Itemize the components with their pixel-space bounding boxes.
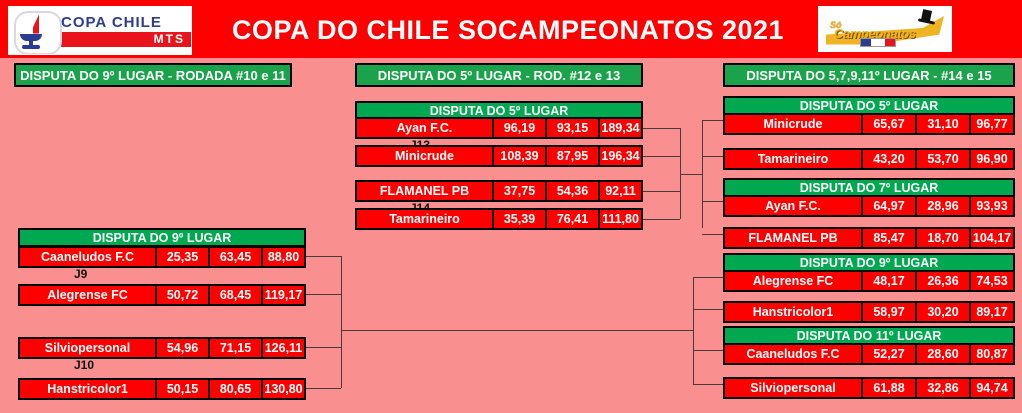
section-header-left: DISPUTA DO 9º LUGAR - RODADA #10 e 11: [14, 63, 292, 87]
score-total: 74,53: [969, 272, 1013, 290]
table-row[interactable]: Hanstricolor1 58,97 30,20 89,17: [723, 301, 1015, 323]
score-total: 119,17: [261, 286, 304, 304]
score-1: 54,96: [155, 339, 208, 357]
table-row[interactable]: Minicrude 108,39 87,95 196,34: [355, 145, 643, 167]
sailboat-trophy-icon: [13, 10, 59, 52]
score-total: 92,11: [598, 182, 641, 200]
score-1: 25,35: [155, 248, 208, 266]
top-hat-icon: [918, 10, 934, 26]
score-total: 126,11: [261, 339, 304, 357]
page-title: COPA DO CHILE SOCAMPEONATOS 2021: [208, 12, 808, 48]
score-2: 32,86: [915, 379, 969, 397]
score-1: 35,39: [492, 210, 545, 228]
score-1: 85,47: [861, 229, 915, 247]
team-name: Alegrense FC: [20, 286, 155, 304]
score-2: 54,36: [545, 182, 598, 200]
connector-line: [693, 309, 723, 310]
connector-line: [341, 330, 693, 331]
connector-line: [693, 277, 723, 278]
team-name: Caaneludos F.C: [725, 345, 861, 363]
connector-line: [306, 294, 341, 295]
connector-line: [306, 347, 341, 348]
connector-line: [306, 256, 341, 257]
score-2: 87,95: [545, 147, 598, 165]
connector-line: [702, 120, 723, 121]
score-total: 130,80: [261, 380, 304, 398]
team-name: Caaneludos F.C: [20, 248, 155, 266]
score-2: 18,70: [915, 229, 969, 247]
table-row[interactable]: Ayan F.C. 96,19 93,15 189,34: [355, 117, 643, 139]
score-1: 50,72: [155, 286, 208, 304]
score-1: 50,15: [155, 380, 208, 398]
team-name: Tamarineiro: [357, 210, 492, 228]
table-row[interactable]: Caaneludos F.C 25,35 63,45 88,80: [18, 246, 306, 268]
score-total: 89,17: [969, 303, 1013, 321]
so-campeonatos-logo: Só Campeonatos: [818, 6, 952, 52]
connector-line: [693, 277, 694, 384]
score-1: 37,75: [492, 182, 545, 200]
bracket-canvas: COPA CHILE MTS COPA DO CHILE SOCAMPEONAT…: [0, 0, 1022, 413]
score-total: 88,80: [261, 248, 304, 266]
table-row[interactable]: Tamarineiro 35,39 76,41 111,80: [355, 208, 643, 230]
score-total: 104,17: [969, 229, 1013, 247]
score-2: 28,96: [915, 197, 969, 215]
section-header-center: DISPUTA DO 5º LUGAR - ROD. #12 e 13: [355, 63, 643, 87]
score-2: 68,45: [208, 286, 261, 304]
match-label-j9: J9: [74, 267, 87, 281]
copa-chile-logo: COPA CHILE MTS: [8, 6, 192, 55]
connector-line: [702, 201, 723, 202]
score-1: 58,97: [861, 303, 915, 321]
table-row[interactable]: Silviopersonal 54,96 71,15 126,11: [18, 337, 306, 359]
table-row[interactable]: Silviopersonal 61,88 32,86 94,74: [723, 377, 1015, 399]
copa-chile-logo-line1: COPA CHILE: [61, 15, 191, 31]
connector-line: [643, 128, 680, 129]
connector-line: [680, 174, 702, 175]
score-2: 26,36: [915, 272, 969, 290]
score-2: 76,41: [545, 210, 598, 228]
copa-chile-logo-line2: MTS: [154, 33, 185, 46]
table-row[interactable]: Alegrense FC 50,72 68,45 119,17: [18, 284, 306, 306]
score-2: 31,10: [915, 115, 969, 133]
table-row[interactable]: Hanstricolor1 50,15 80,65 130,80: [18, 378, 306, 400]
team-name: Tamarineiro: [725, 150, 861, 168]
team-name: Ayan F.C.: [725, 197, 861, 215]
flag-icon: [860, 38, 896, 47]
score-1: 61,88: [861, 379, 915, 397]
table-row[interactable]: Minicrude 65,67 31,10 96,77: [723, 113, 1015, 135]
connector-line: [702, 234, 723, 235]
team-name: FLAMANEL PB: [357, 182, 492, 200]
score-2: 53,70: [915, 150, 969, 168]
team-name: Silviopersonal: [725, 379, 861, 397]
group-title-left-9: DISPUTA DO 9º LUGAR: [18, 228, 306, 247]
team-name: Minicrude: [725, 115, 861, 133]
score-total: 111,80: [598, 210, 641, 228]
score-total: 80,87: [969, 345, 1013, 363]
team-name: Minicrude: [357, 147, 492, 165]
match-label-j10: J10: [74, 358, 94, 372]
score-total: 94,74: [969, 379, 1013, 397]
score-total: 93,93: [969, 197, 1013, 215]
score-2: 30,20: [915, 303, 969, 321]
score-1: 43,20: [861, 150, 915, 168]
team-name: Alegrense FC: [725, 272, 861, 290]
section-header-right: DISPUTA DO 5,7,9,11º LUGAR - #14 e 15: [723, 63, 1015, 87]
team-name: Hanstricolor1: [725, 303, 861, 321]
score-2: 80,65: [208, 380, 261, 398]
page-header: COPA CHILE MTS COPA DO CHILE SOCAMPEONAT…: [0, 0, 1022, 58]
connector-line: [643, 156, 680, 157]
connector-line: [702, 156, 723, 157]
connector-line: [306, 388, 341, 389]
team-name: FLAMANEL PB: [725, 229, 861, 247]
score-2: 71,15: [208, 339, 261, 357]
table-row[interactable]: FLAMANEL PB 37,75 54,36 92,11: [355, 180, 643, 202]
score-1: 96,19: [492, 119, 545, 137]
team-name: Hanstricolor1: [20, 380, 155, 398]
score-2: 63,45: [208, 248, 261, 266]
score-1: 108,39: [492, 147, 545, 165]
connector-line: [643, 191, 680, 192]
team-name: Ayan F.C.: [357, 119, 492, 137]
table-row[interactable]: FLAMANEL PB 85,47 18,70 104,17: [723, 227, 1015, 249]
score-total: 189,34: [598, 119, 641, 137]
score-2: 28,60: [915, 345, 969, 363]
score-2: 93,15: [545, 119, 598, 137]
score-1: 52,27: [861, 345, 915, 363]
table-row[interactable]: Tamarineiro 43,20 53,70 96,90: [723, 148, 1015, 170]
score-total: 96,77: [969, 115, 1013, 133]
connector-line: [702, 120, 703, 228]
connector-line: [341, 275, 342, 368]
table-row[interactable]: Caaneludos F.C 52,27 28,60 80,87: [723, 343, 1015, 365]
score-total: 196,34: [598, 147, 641, 165]
table-row[interactable]: Ayan F.C. 64,97 28,96 93,93: [723, 195, 1015, 217]
team-name: Silviopersonal: [20, 339, 155, 357]
connector-line: [693, 350, 723, 351]
score-1: 65,67: [861, 115, 915, 133]
table-row[interactable]: Alegrense FC 48,17 26,36 74,53: [723, 270, 1015, 292]
connector-line: [693, 384, 723, 385]
score-total: 96,90: [969, 150, 1013, 168]
connector-line: [643, 219, 680, 220]
score-1: 48,17: [861, 272, 915, 290]
score-1: 64,97: [861, 197, 915, 215]
